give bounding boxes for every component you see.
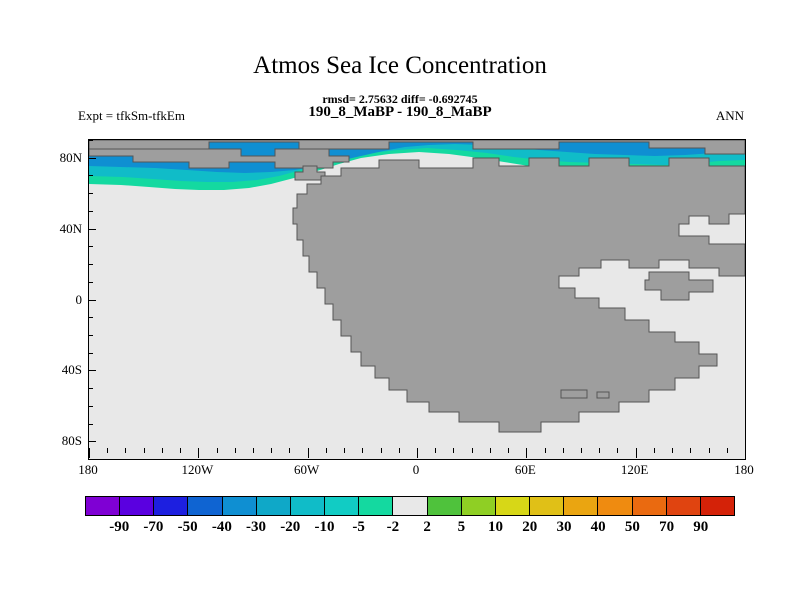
x-tick--50 <box>326 448 327 453</box>
x-tick-50 <box>508 448 509 453</box>
page-title: Atmos Sea Ice Concentration <box>0 52 800 80</box>
y-label-40S: 40S <box>42 363 82 376</box>
x-label-60E: 60E <box>495 462 555 478</box>
y-tick--10 <box>89 317 93 318</box>
colorbar-cell-16 <box>633 497 667 515</box>
x-tick--100 <box>235 448 236 453</box>
y-tick-40 <box>89 229 96 230</box>
y-label-80N: 80N <box>42 151 82 164</box>
header-season-label: ANN <box>716 108 744 124</box>
x-tick-170 <box>727 448 728 453</box>
y-tick--40 <box>89 370 96 371</box>
x-tick-80 <box>563 448 564 453</box>
x-tick-30 <box>472 448 473 453</box>
x-tick-130 <box>654 448 655 453</box>
y-tick--90 <box>89 459 93 460</box>
colorbar-cell-13 <box>530 497 564 515</box>
colorbar-cells <box>85 496 735 516</box>
colorbar-cell-8 <box>359 497 393 515</box>
x-tick--60 <box>308 448 309 458</box>
colorbar-cell-6 <box>291 497 325 515</box>
x-label-180: 180 <box>714 462 774 478</box>
y-tick--80 <box>89 441 96 442</box>
y-tick-90 <box>89 140 93 141</box>
colorbar-cell-3 <box>188 497 222 515</box>
x-tick-100 <box>599 448 600 453</box>
x-tick-0 <box>417 448 418 458</box>
y-tick-70 <box>89 175 93 176</box>
x-tick-150 <box>690 448 691 453</box>
y-tick--60 <box>89 406 93 407</box>
y-label-80S: 80S <box>42 434 82 447</box>
y-tick-0 <box>89 300 96 301</box>
x-tick--30 <box>362 448 363 453</box>
x-tick--140 <box>162 448 163 453</box>
x-tick-120 <box>636 448 637 458</box>
land-small-island-a <box>561 390 587 398</box>
x-label-180: 180 <box>58 462 118 478</box>
x-tick--150 <box>144 448 145 453</box>
x-label-120W: 120W <box>167 462 227 478</box>
x-tick-160 <box>709 448 710 453</box>
colorbar-cell-10 <box>428 497 462 515</box>
x-tick-180 <box>745 448 746 458</box>
map-contour-svg <box>89 140 745 459</box>
figure-canvas: Atmos Sea Ice Concentration rmsd= 2.7563… <box>0 0 800 600</box>
y-tick-50 <box>89 211 93 212</box>
colorbar-cell-2 <box>154 497 188 515</box>
colorbar-cell-15 <box>598 497 632 515</box>
y-tick--20 <box>89 335 93 336</box>
x-tick--10 <box>399 448 400 453</box>
x-label-60W: 60W <box>277 462 337 478</box>
y-tick-60 <box>89 193 93 194</box>
x-tick-140 <box>672 448 673 453</box>
colorbar-cell-5 <box>257 497 291 515</box>
x-tick--160 <box>125 448 126 453</box>
colorbar-cell-1 <box>120 497 154 515</box>
colorbar-cell-7 <box>325 497 359 515</box>
y-tick-30 <box>89 246 93 247</box>
y-tick-20 <box>89 264 93 265</box>
colorbar-cell-9 <box>393 497 427 515</box>
x-tick--180 <box>89 448 90 458</box>
x-tick-40 <box>490 448 491 453</box>
x-tick-60 <box>526 448 527 458</box>
y-axis-labels: 80N40N040S80S <box>38 139 82 459</box>
colorbar-cell-4 <box>223 497 257 515</box>
x-axis-labels: 180120W60W060E120E180 <box>0 462 800 482</box>
x-label-0: 0 <box>386 462 446 478</box>
x-tick--110 <box>217 448 218 453</box>
colorbar-label-90: 90 <box>676 519 726 536</box>
y-tick--30 <box>89 353 93 354</box>
colorbar-cell-11 <box>462 497 496 515</box>
header-experiment-label: Expt = tfkSm-tfkEm <box>78 108 185 124</box>
x-tick--90 <box>253 448 254 453</box>
y-tick-10 <box>89 282 93 283</box>
colorbar-cell-0 <box>86 497 120 515</box>
y-tick-80 <box>89 158 96 159</box>
y-tick--70 <box>89 424 93 425</box>
x-tick--20 <box>381 448 382 453</box>
colorbar-cell-17 <box>667 497 701 515</box>
x-tick--130 <box>180 448 181 453</box>
y-axis-ticks <box>89 139 99 460</box>
x-axis-ticks <box>88 448 746 459</box>
x-tick--40 <box>344 448 345 453</box>
x-tick-70 <box>545 448 546 453</box>
x-label-120E: 120E <box>605 462 665 478</box>
x-tick-110 <box>617 448 618 453</box>
x-tick-10 <box>435 448 436 453</box>
colorbar-cell-12 <box>496 497 530 515</box>
x-tick--80 <box>271 448 272 453</box>
x-tick--70 <box>289 448 290 453</box>
colorbar <box>85 496 735 516</box>
y-label-40N: 40N <box>42 222 82 235</box>
colorbar-cell-18 <box>701 497 734 515</box>
y-label-0: 0 <box>42 293 82 306</box>
land-small-island-b <box>597 392 609 398</box>
x-tick--120 <box>198 448 199 458</box>
colorbar-cell-14 <box>564 497 598 515</box>
x-tick--170 <box>107 448 108 453</box>
x-tick-20 <box>453 448 454 453</box>
y-tick--50 <box>89 388 93 389</box>
map-plot-area <box>88 139 746 460</box>
colorbar-tick-labels: -90-70-50-40-30-20-10-5-2251020304050709… <box>85 519 735 539</box>
x-tick-90 <box>581 448 582 453</box>
